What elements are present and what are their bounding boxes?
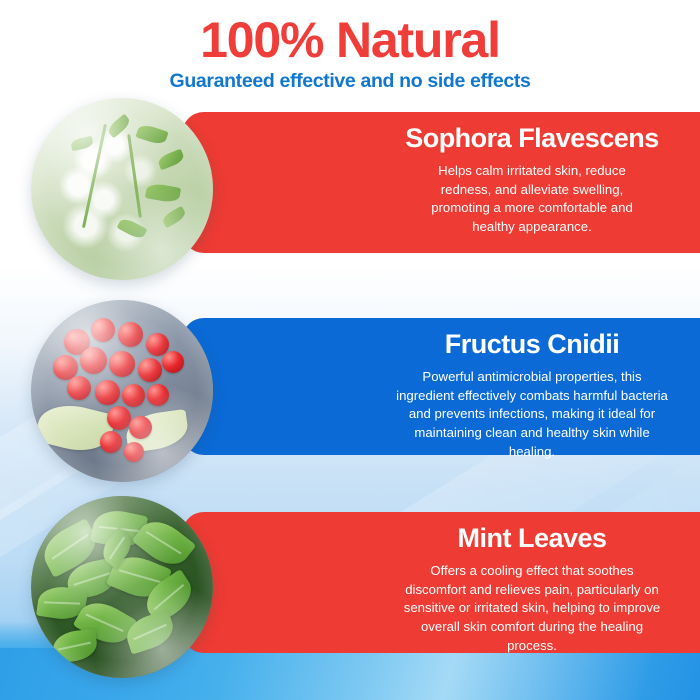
red-berry — [91, 318, 115, 342]
green-leaf — [117, 216, 148, 241]
mint-leaves-orb-image — [31, 496, 213, 678]
ingredient-card-mint-leaves: Mint Leaves Offers a cooling effect that… — [182, 512, 700, 653]
red-berry — [95, 380, 120, 405]
red-berry — [147, 384, 169, 406]
red-berry — [138, 358, 162, 382]
green-leaf — [161, 206, 188, 228]
ingredient-description: Helps calm irritated skin, reduce rednes… — [394, 162, 670, 237]
red-berry — [100, 431, 122, 453]
red-berry — [124, 442, 144, 462]
plant-stem — [127, 135, 142, 218]
sophora-artwork — [31, 98, 213, 280]
mint-artwork — [31, 496, 213, 678]
fructus-cnidii-artwork — [31, 300, 213, 482]
green-leaf — [70, 136, 94, 151]
green-leaf — [145, 183, 181, 205]
sophora-flavescens-orb-image — [31, 98, 213, 280]
page-subtitle: Guaranteed effective and no side effects — [0, 70, 700, 93]
natural-ingredients-poster: 100% Natural Guaranteed effective and no… — [0, 0, 700, 700]
red-berry — [146, 333, 169, 356]
page-title: 100% Natural — [0, 14, 700, 66]
fructus-cnidii-orb-image — [31, 300, 213, 482]
red-berry — [162, 351, 184, 373]
poster-header: 100% Natural Guaranteed effective and no… — [0, 14, 700, 93]
ingredient-title: Sophora Flavescens — [394, 123, 670, 155]
ingredient-title: Fructus Cnidii — [394, 329, 670, 361]
ingredient-description: Offers a cooling effect that soothes dis… — [394, 562, 670, 656]
ingredient-card-sophora-flavescens: Sophora Flavescens Helps calm irritated … — [182, 112, 700, 253]
red-berry — [122, 384, 145, 407]
green-leaf — [135, 123, 168, 147]
red-berry — [109, 351, 135, 377]
red-berry — [107, 406, 131, 430]
red-berry — [118, 322, 143, 347]
red-berry — [80, 347, 107, 374]
ingredient-description: Powerful antimicrobial properties, this … — [394, 368, 670, 462]
ingredient-title: Mint Leaves — [394, 523, 670, 555]
green-leaf — [157, 148, 186, 170]
ingredient-card-fructus-cnidii: Fructus Cnidii Powerful antimicrobial pr… — [182, 318, 700, 455]
mint-leaf — [51, 628, 98, 662]
red-berry — [67, 376, 91, 400]
